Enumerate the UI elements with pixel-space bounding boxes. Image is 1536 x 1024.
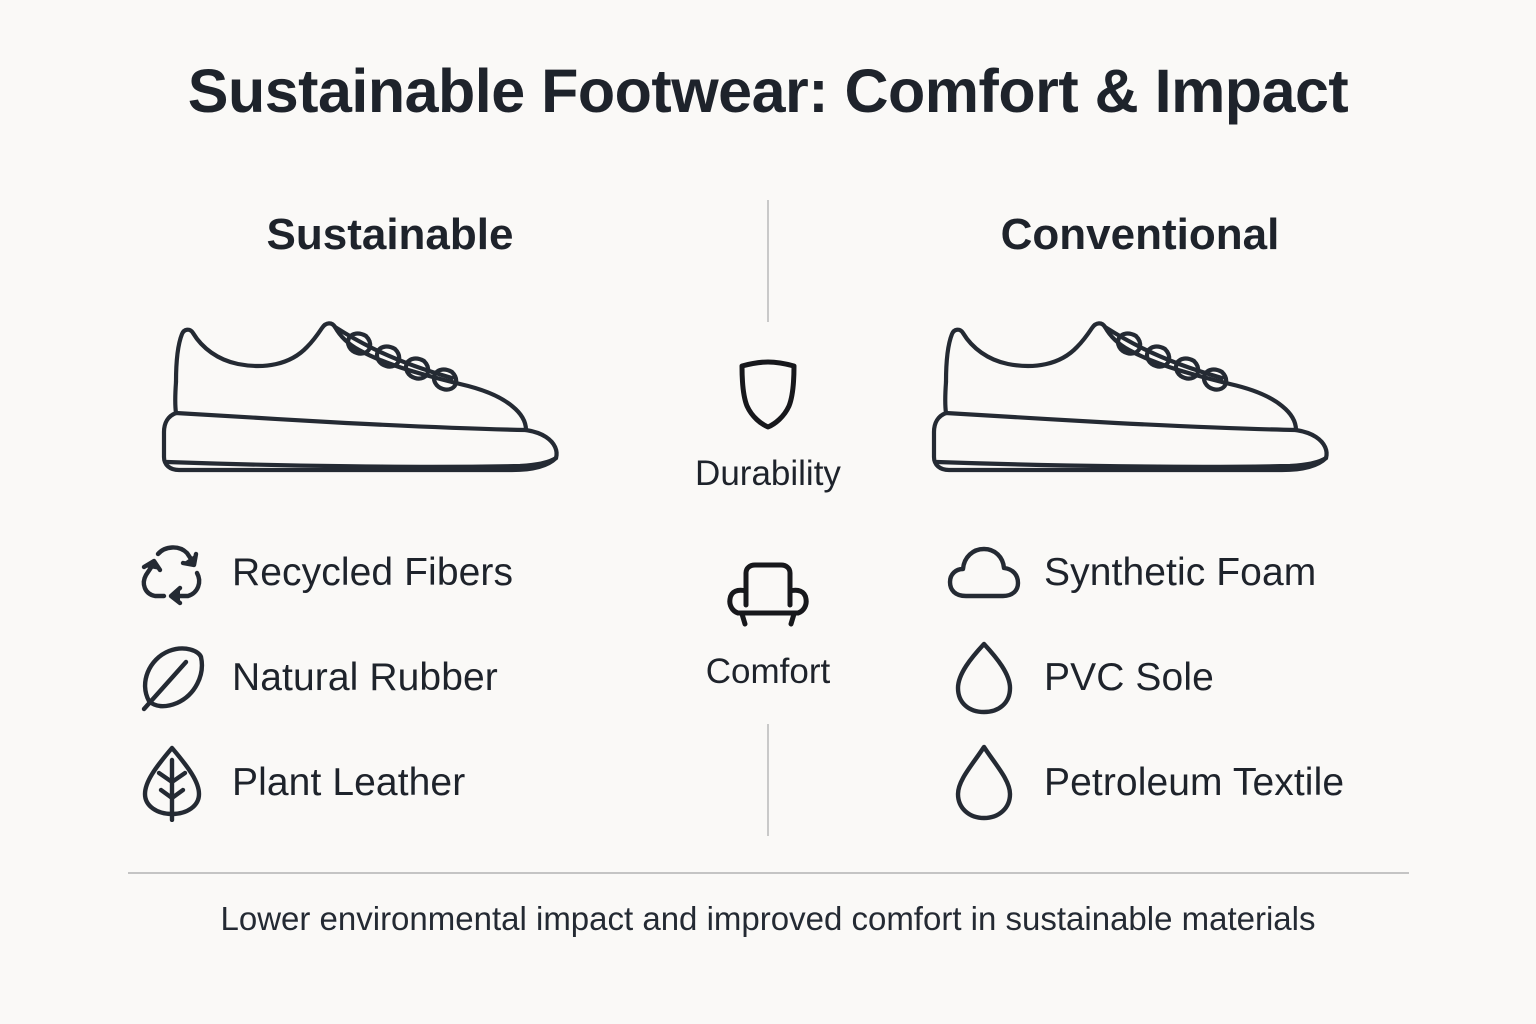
center-item-durability: Durability	[648, 352, 888, 494]
center-item-comfort: Comfort	[648, 552, 888, 692]
sneaker-outline-icon-sustainable	[160, 292, 620, 492]
center-divider-bottom	[767, 724, 769, 836]
page-title: Sustainable Footwear: Comfort & Impact	[0, 58, 1536, 125]
cloud-icon	[946, 533, 1022, 613]
infographic-canvas: Sustainable Footwear: Comfort & Impact S…	[0, 0, 1536, 1024]
feature-list-sustainable: Recycled Fibers Natural Rubber	[134, 520, 694, 835]
footer-divider	[128, 872, 1409, 874]
center-divider-top	[767, 200, 769, 322]
list-item-label: Natural Rubber	[232, 656, 498, 700]
list-item-label: Recycled Fibers	[232, 551, 513, 595]
egg-drop-icon	[946, 638, 1022, 718]
list-item: PVC Sole	[946, 625, 1506, 730]
feature-list-conventional: Synthetic Foam PVC Sole Petroleum Textil…	[946, 520, 1506, 835]
list-item: Natural Rubber	[134, 625, 694, 730]
list-item-label: Synthetic Foam	[1044, 551, 1316, 595]
water-drop-icon	[946, 743, 1022, 823]
center-item-label: Durability	[648, 454, 888, 494]
armchair-icon	[648, 552, 888, 636]
list-item: Plant Leather	[134, 730, 694, 835]
list-item: Petroleum Textile	[946, 730, 1506, 835]
list-item-label: Plant Leather	[232, 761, 465, 805]
list-item: Recycled Fibers	[134, 520, 694, 625]
list-item-label: Petroleum Textile	[1044, 761, 1344, 805]
recycle-icon	[134, 533, 210, 613]
leaf-icon	[134, 638, 210, 718]
sneaker-outline-icon-conventional	[930, 292, 1390, 492]
column-heading-sustainable: Sustainable	[130, 210, 650, 260]
list-item: Synthetic Foam	[946, 520, 1506, 625]
shield-icon	[648, 352, 888, 436]
center-item-label: Comfort	[648, 652, 888, 692]
plant-leaf-icon	[134, 743, 210, 823]
footer-note: Lower environmental impact and improved …	[0, 900, 1536, 938]
list-item-label: PVC Sole	[1044, 656, 1214, 700]
column-heading-conventional: Conventional	[880, 210, 1400, 260]
